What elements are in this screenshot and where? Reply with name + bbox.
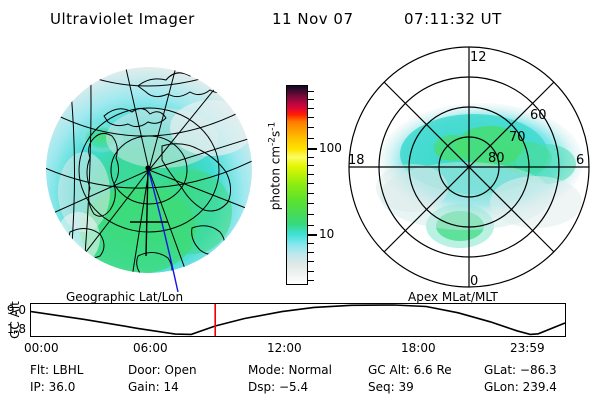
mlat-label-80: 80 bbox=[488, 151, 505, 166]
colorbar-axis-title: photon cm-2s-1 bbox=[268, 122, 283, 211]
colorbar-minor-tick bbox=[308, 203, 314, 204]
observation-time: 07:11:32 UT bbox=[404, 10, 502, 28]
gc-alt-min-label: 1.8 bbox=[0, 322, 26, 336]
colorbar-legend: 10010 photon cm-2s-1 bbox=[283, 48, 341, 293]
colorbar-minor-tick bbox=[308, 243, 314, 244]
apex-panel-caption: Apex MLat/MLT bbox=[408, 290, 498, 304]
colorbar-minor-tick bbox=[308, 271, 314, 272]
time-axis-label: 18:00 bbox=[401, 341, 436, 355]
colorbar-minor-tick bbox=[308, 252, 314, 253]
geographic-plot-svg bbox=[42, 42, 270, 292]
status-field: Flt: LBHL bbox=[30, 363, 83, 377]
altitude-trace bbox=[31, 305, 565, 334]
instrument-title: Ultraviolet Imager bbox=[50, 10, 195, 28]
status-field: Mode: Normal bbox=[248, 363, 332, 377]
status-field: GLon: 239.4 bbox=[484, 380, 557, 394]
apex-plot-svg: 12 6 0 18 60 70 80 bbox=[340, 42, 598, 292]
status-field: Gain: 14 bbox=[128, 380, 179, 394]
status-field: GC Alt: 6.6 Re bbox=[368, 363, 452, 377]
geographic-aurora-panel bbox=[42, 42, 270, 292]
status-field: GLat: −86.3 bbox=[484, 363, 557, 377]
status-field: Dsp: −5.4 bbox=[248, 380, 308, 394]
time-axis-label: 23:59 bbox=[510, 341, 545, 355]
mlt-label-18: 18 bbox=[348, 153, 365, 168]
colorbar-minor-tick bbox=[308, 183, 314, 184]
orbit-altitude-plot bbox=[31, 304, 565, 336]
status-field: Seq: 39 bbox=[368, 380, 414, 394]
colorbar-minor-tick bbox=[308, 225, 314, 226]
mlat-label-70: 70 bbox=[509, 130, 526, 145]
colorbar-minor-tick bbox=[308, 99, 314, 100]
time-axis-label: 06:00 bbox=[133, 341, 168, 355]
colorbar-major-tick bbox=[308, 234, 317, 236]
status-readout: Flt: LBHLDoor: OpenMode: NormalGC Alt: 6… bbox=[0, 363, 600, 399]
observation-date: 11 Nov 07 bbox=[272, 10, 354, 28]
mlt-label-12: 12 bbox=[470, 50, 487, 65]
colorbar-major-tick bbox=[308, 148, 317, 150]
header-bar: Ultraviolet Imager 11 Nov 07 07:11:32 UT bbox=[0, 8, 600, 32]
colorbar-minor-tick bbox=[308, 117, 314, 118]
status-field: Door: Open bbox=[128, 363, 197, 377]
mlt-label-6: 6 bbox=[576, 153, 584, 168]
colorbar-minor-tick bbox=[308, 193, 314, 194]
colorbar-minor-tick bbox=[308, 214, 314, 215]
pole-center-point bbox=[145, 165, 150, 170]
orbit-altitude-strip[interactable] bbox=[30, 303, 566, 337]
mlat-label-60: 60 bbox=[530, 108, 547, 123]
gc-alt-max-label: 9.0 bbox=[0, 303, 26, 317]
time-axis-label: 12:00 bbox=[267, 341, 302, 355]
mlt-label-0: 0 bbox=[470, 274, 478, 289]
apex-aurora-panel: 12 6 0 18 60 70 80 bbox=[340, 42, 598, 292]
colorbar-minor-tick bbox=[308, 138, 314, 139]
colorbar-minor-tick bbox=[308, 165, 314, 166]
colorbar-gradient bbox=[287, 86, 307, 284]
colorbar-minor-tick bbox=[308, 280, 314, 281]
colorbar-scale bbox=[286, 85, 308, 285]
geographic-panel-caption: Geographic Lat/Lon bbox=[66, 290, 183, 304]
colorbar-minor-tick bbox=[308, 157, 314, 158]
colorbar-minor-tick bbox=[308, 261, 314, 262]
time-axis-label: 00:00 bbox=[24, 341, 59, 355]
status-field: IP: 36.0 bbox=[30, 380, 75, 394]
colorbar-minor-tick bbox=[308, 174, 314, 175]
colorbar-tick-label: 10 bbox=[319, 227, 334, 241]
colorbar-minor-tick bbox=[308, 91, 314, 92]
colorbar-minor-tick bbox=[308, 108, 314, 109]
colorbar-tick-label: 100 bbox=[319, 141, 342, 155]
colorbar-minor-tick bbox=[308, 127, 314, 128]
mlt-spokes bbox=[349, 47, 589, 287]
